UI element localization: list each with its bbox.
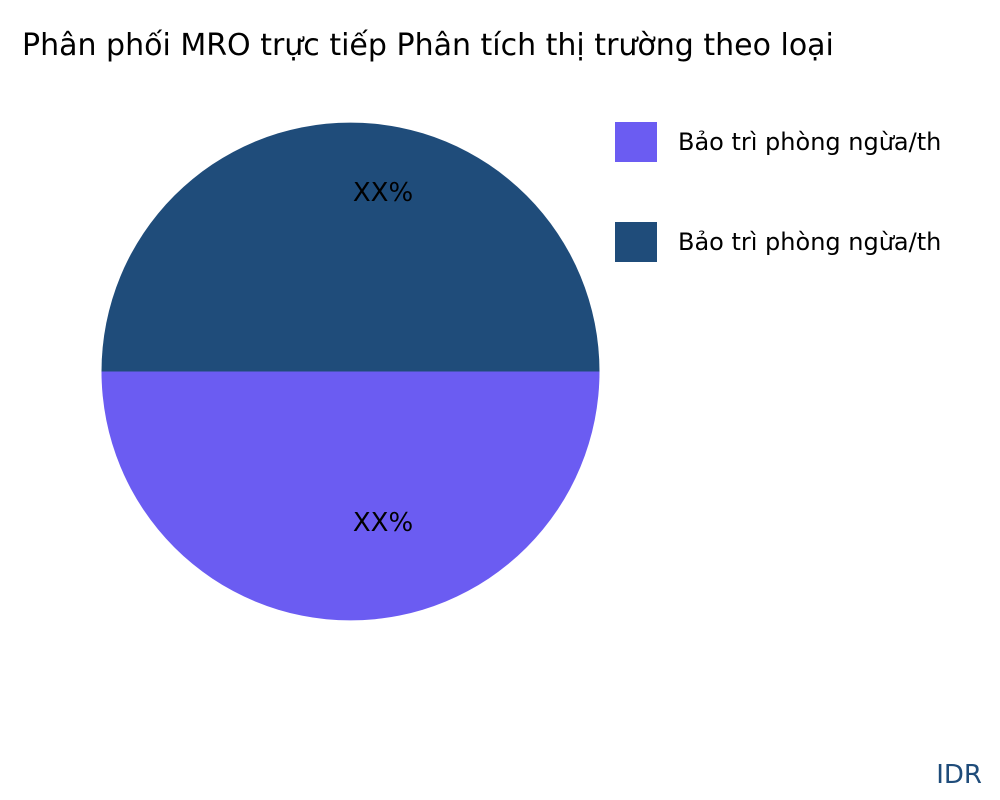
chart-canvas: Phân phối MRO trực tiếp Phân tích thị tr… (0, 0, 1000, 800)
legend-item[interactable]: Bảo trì phòng ngừa/th (615, 221, 1000, 263)
pie-slice-preventive-maintenance-1[interactable] (102, 372, 600, 621)
legend: Bảo trì phòng ngừa/th Bảo trì phòng ngừa… (615, 121, 1000, 263)
page-title: Phân phối MRO trực tiếp Phân tích thị tr… (22, 27, 834, 65)
pie-chart: XX% XX% (101, 122, 600, 621)
legend-color-swatch-icon (615, 222, 657, 262)
pie-slice-label-1: XX% (353, 510, 413, 536)
legend-item-label: Bảo trì phòng ngừa/th (678, 228, 941, 256)
legend-color-swatch-icon (615, 122, 657, 162)
legend-item-label: Bảo trì phòng ngừa/th (678, 128, 941, 156)
pie-chart-svg (101, 122, 600, 621)
legend-item[interactable]: Bảo trì phòng ngừa/th (615, 121, 1000, 163)
currency-watermark: IDR (936, 760, 982, 790)
pie-slice-label-2: XX% (353, 180, 413, 206)
pie-slice-preventive-maintenance-2[interactable] (102, 123, 600, 372)
